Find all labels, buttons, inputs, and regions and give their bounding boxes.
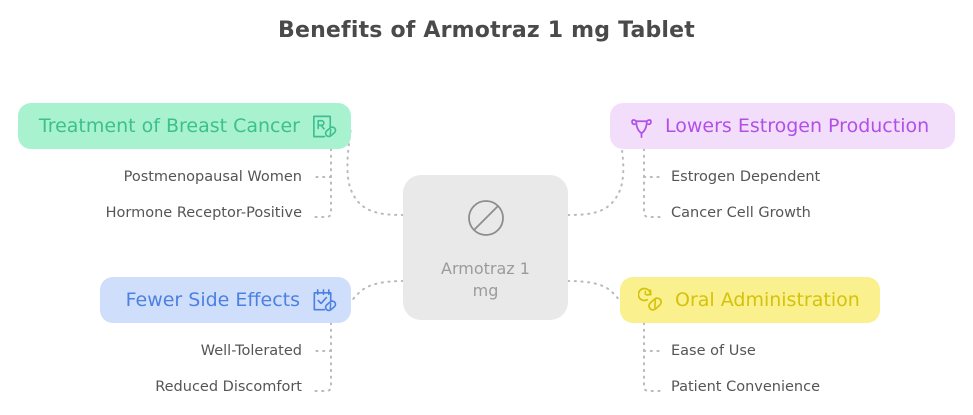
sub-item-hormone-receptor-positive: Hormone Receptor-Positive: [106, 205, 302, 221]
sub-item-well-tolerated: Well-Tolerated: [201, 343, 302, 359]
mindmap-canvas: Benefits of Armotraz 1 mg Tablet: [0, 0, 973, 415]
connector-center-to-branch-3: [568, 281, 621, 301]
center-node[interactable]: Armotraz 1 mg: [403, 175, 568, 320]
prescription-rx-pill-icon: [310, 113, 337, 140]
sub-item-ease-of-use: Ease of Use: [671, 343, 756, 359]
branch-node-oral-administration[interactable]: Oral Administration: [620, 277, 880, 323]
connector-branch-3-spine: [644, 323, 662, 391]
connector-center-to-branch-2: [351, 281, 403, 301]
uterus-icon: [628, 113, 655, 140]
page-title: Benefits of Armotraz 1 mg Tablet: [0, 18, 973, 43]
connector-branch-0-spine: [312, 149, 331, 217]
connector-branch-1-spine: [644, 149, 662, 217]
branch-label-lowers-estrogen-production: Lowers Estrogen Production: [665, 115, 929, 137]
branch-label-fewer-side-effects: Fewer Side Effects: [126, 289, 300, 311]
branch-label-oral-administration: Oral Administration: [675, 289, 860, 311]
branch-node-treatment-of-breast-cancer[interactable]: Treatment of Breast Cancer: [18, 103, 351, 149]
center-node-label: Armotraz 1 mg: [428, 258, 543, 301]
sub-item-estrogen-dependent: Estrogen Dependent: [671, 169, 820, 185]
sub-item-postmenopausal-women: Postmenopausal Women: [124, 169, 302, 185]
sub-item-reduced-discomfort: Reduced Discomfort: [155, 379, 302, 395]
checklist-clipboard-pill-icon: [310, 287, 337, 314]
connector-branch-2-spine: [312, 323, 331, 391]
sub-item-cancer-cell-growth: Cancer Cell Growth: [671, 205, 811, 221]
branch-node-fewer-side-effects[interactable]: Fewer Side Effects: [100, 277, 351, 323]
branch-label-treatment-of-breast-cancer: Treatment of Breast Cancer: [39, 115, 300, 137]
branch-node-lowers-estrogen-production[interactable]: Lowers Estrogen Production: [610, 103, 955, 149]
pill-timer-icon: [638, 287, 665, 314]
tablet-pill-icon: [462, 194, 510, 246]
sub-item-patient-convenience: Patient Convenience: [671, 379, 820, 395]
connector-center-to-branch-0: [347, 127, 403, 215]
